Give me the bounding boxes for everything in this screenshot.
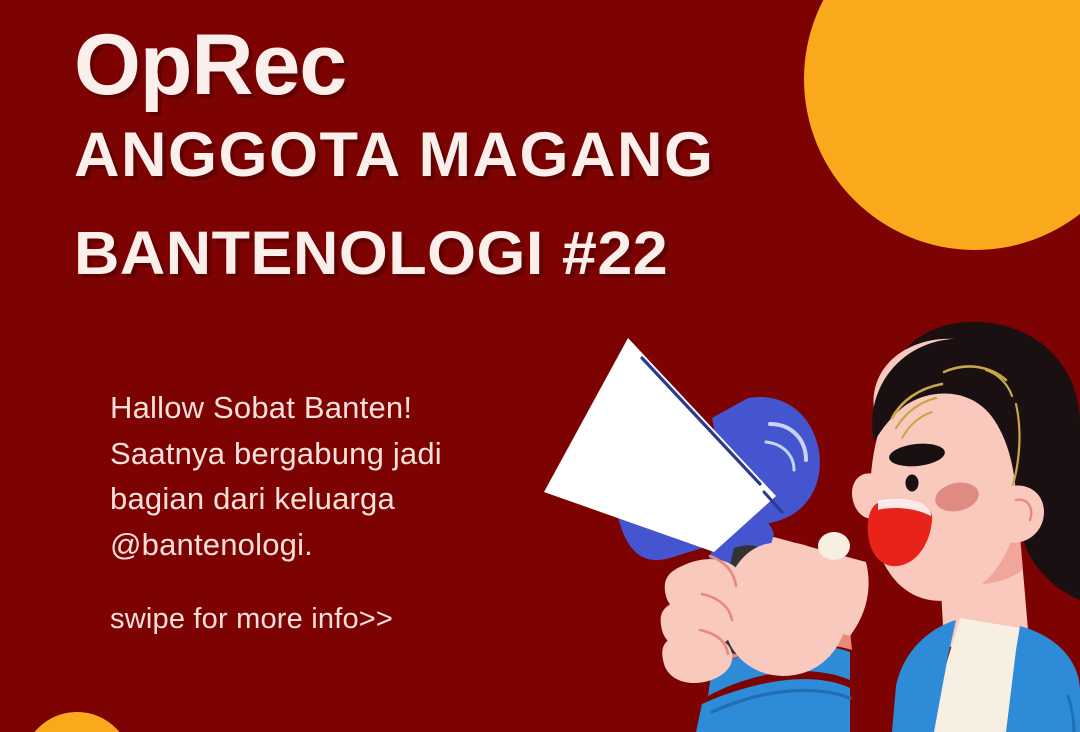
body-copy-block: Hallow Sobat Banten! Saatnya bergabung j… <box>110 385 442 567</box>
person-with-megaphone-illustration <box>520 300 1080 732</box>
heading-anggota-magang: ANGGOTA MAGANG <box>74 124 714 187</box>
eye <box>906 475 919 492</box>
poster-canvas: OpRec ANGGOTA MAGANG BANTENOLOGI #22 Hal… <box>0 0 1080 732</box>
body-line-3: bagian dari keluarga <box>110 476 442 522</box>
hand <box>661 532 852 683</box>
orange-circle-bottom-left <box>22 712 132 732</box>
heading-bantenologi-number: BANTENOLOGI #22 <box>74 223 734 284</box>
heading-block: OpRec ANGGOTA MAGANG BANTENOLOGI #22 <box>74 22 714 284</box>
orange-circle-top-right <box>804 0 1080 250</box>
body-line-1: Hallow Sobat Banten! <box>110 385 442 431</box>
heading-oprec: OpRec <box>74 22 714 110</box>
torso <box>892 618 1080 732</box>
body-line-4-handle: @bantenologi. <box>110 522 442 568</box>
swipe-for-more-info-label: swipe for more info>> <box>110 603 393 636</box>
body-line-2: Saatnya bergabung jadi <box>110 431 442 477</box>
